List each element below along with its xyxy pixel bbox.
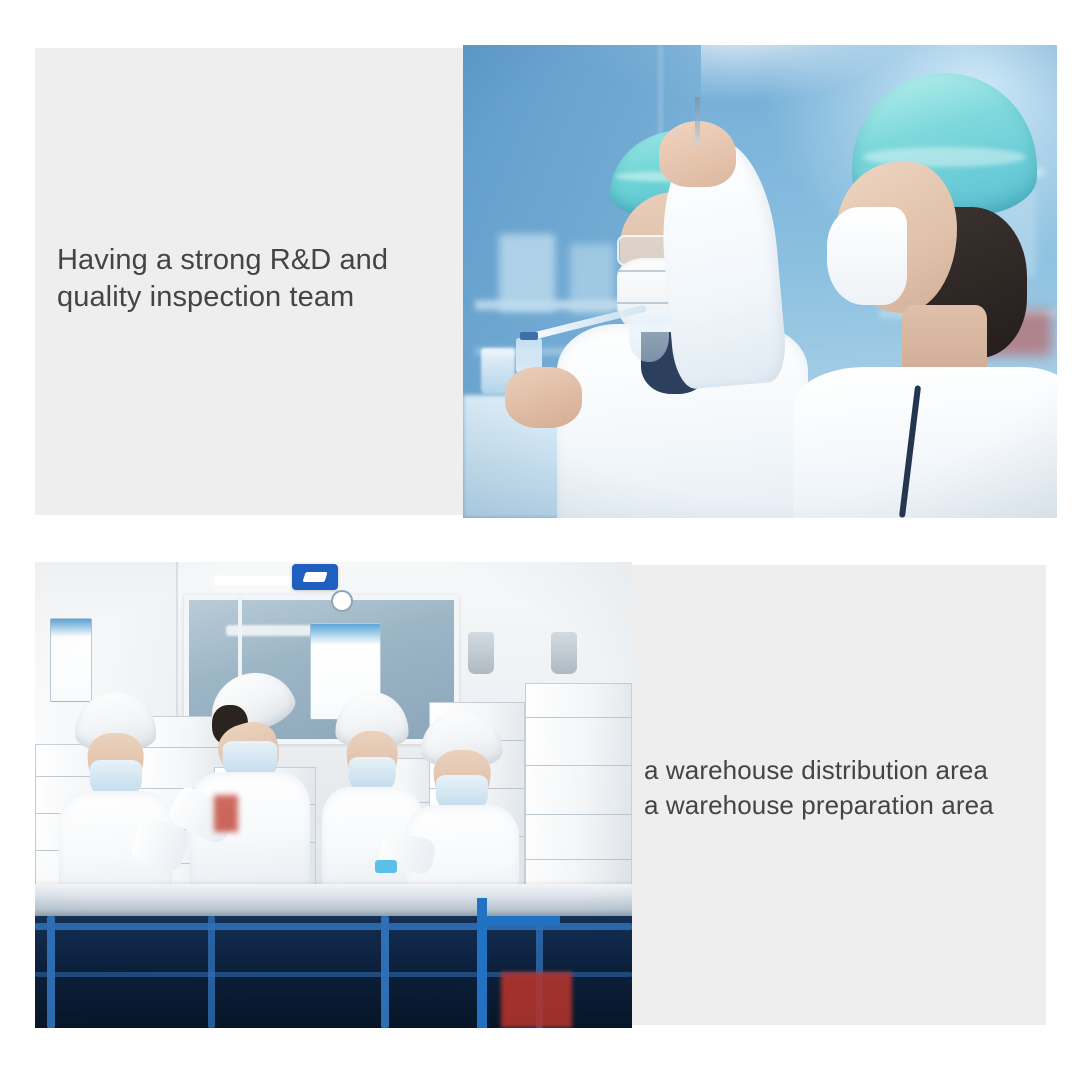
warehouse-packing-photo	[35, 562, 632, 1028]
lab-technician-profile	[808, 73, 1057, 518]
lab-inspection-photo	[463, 45, 1057, 518]
steel-work-table	[35, 884, 632, 917]
ceiling-light	[214, 576, 304, 585]
bottom-caption: a warehouse distribution area a warehous…	[644, 753, 1044, 822]
carton-seam	[526, 814, 631, 815]
red-crate	[501, 972, 573, 1028]
table-leg	[47, 916, 55, 1028]
bottom-section: a warehouse distribution area a warehous…	[0, 540, 1080, 1080]
blue-packaging-item	[375, 860, 397, 873]
red-accent	[214, 795, 238, 832]
lab-coat	[793, 367, 1057, 518]
carton-seam	[526, 717, 631, 718]
top-caption-line-2: quality inspection team	[57, 279, 457, 316]
carton-stack	[525, 683, 632, 888]
bottom-caption-line-1: a warehouse distribution area	[644, 753, 1044, 788]
banner-page: Having a strong R&D and quality inspecti…	[0, 0, 1080, 1080]
top-caption: Having a strong R&D and quality inspecti…	[57, 242, 457, 316]
top-section: Having a strong R&D and quality inspecti…	[0, 0, 1080, 540]
wall-clock	[331, 590, 353, 612]
warehouse-worker	[190, 674, 309, 898]
wall-dispenser	[551, 632, 577, 674]
test-tube	[695, 97, 700, 145]
gloved-hand-lower	[505, 367, 582, 428]
table-leg	[208, 916, 215, 1028]
bottom-caption-line-2: a warehouse preparation area	[644, 788, 1044, 823]
table-leg	[381, 916, 389, 1028]
blue-wall-sign	[292, 564, 338, 590]
wall-notice	[50, 618, 92, 702]
glass-flask	[629, 310, 669, 362]
carton-seam	[526, 859, 631, 860]
face-mask	[827, 207, 907, 305]
lab-equipment	[499, 234, 555, 312]
top-caption-line-1: Having a strong R&D and	[57, 242, 457, 279]
wall-dispenser	[468, 632, 494, 674]
blue-trolley-frame	[477, 916, 561, 925]
carton-seam	[526, 765, 631, 766]
